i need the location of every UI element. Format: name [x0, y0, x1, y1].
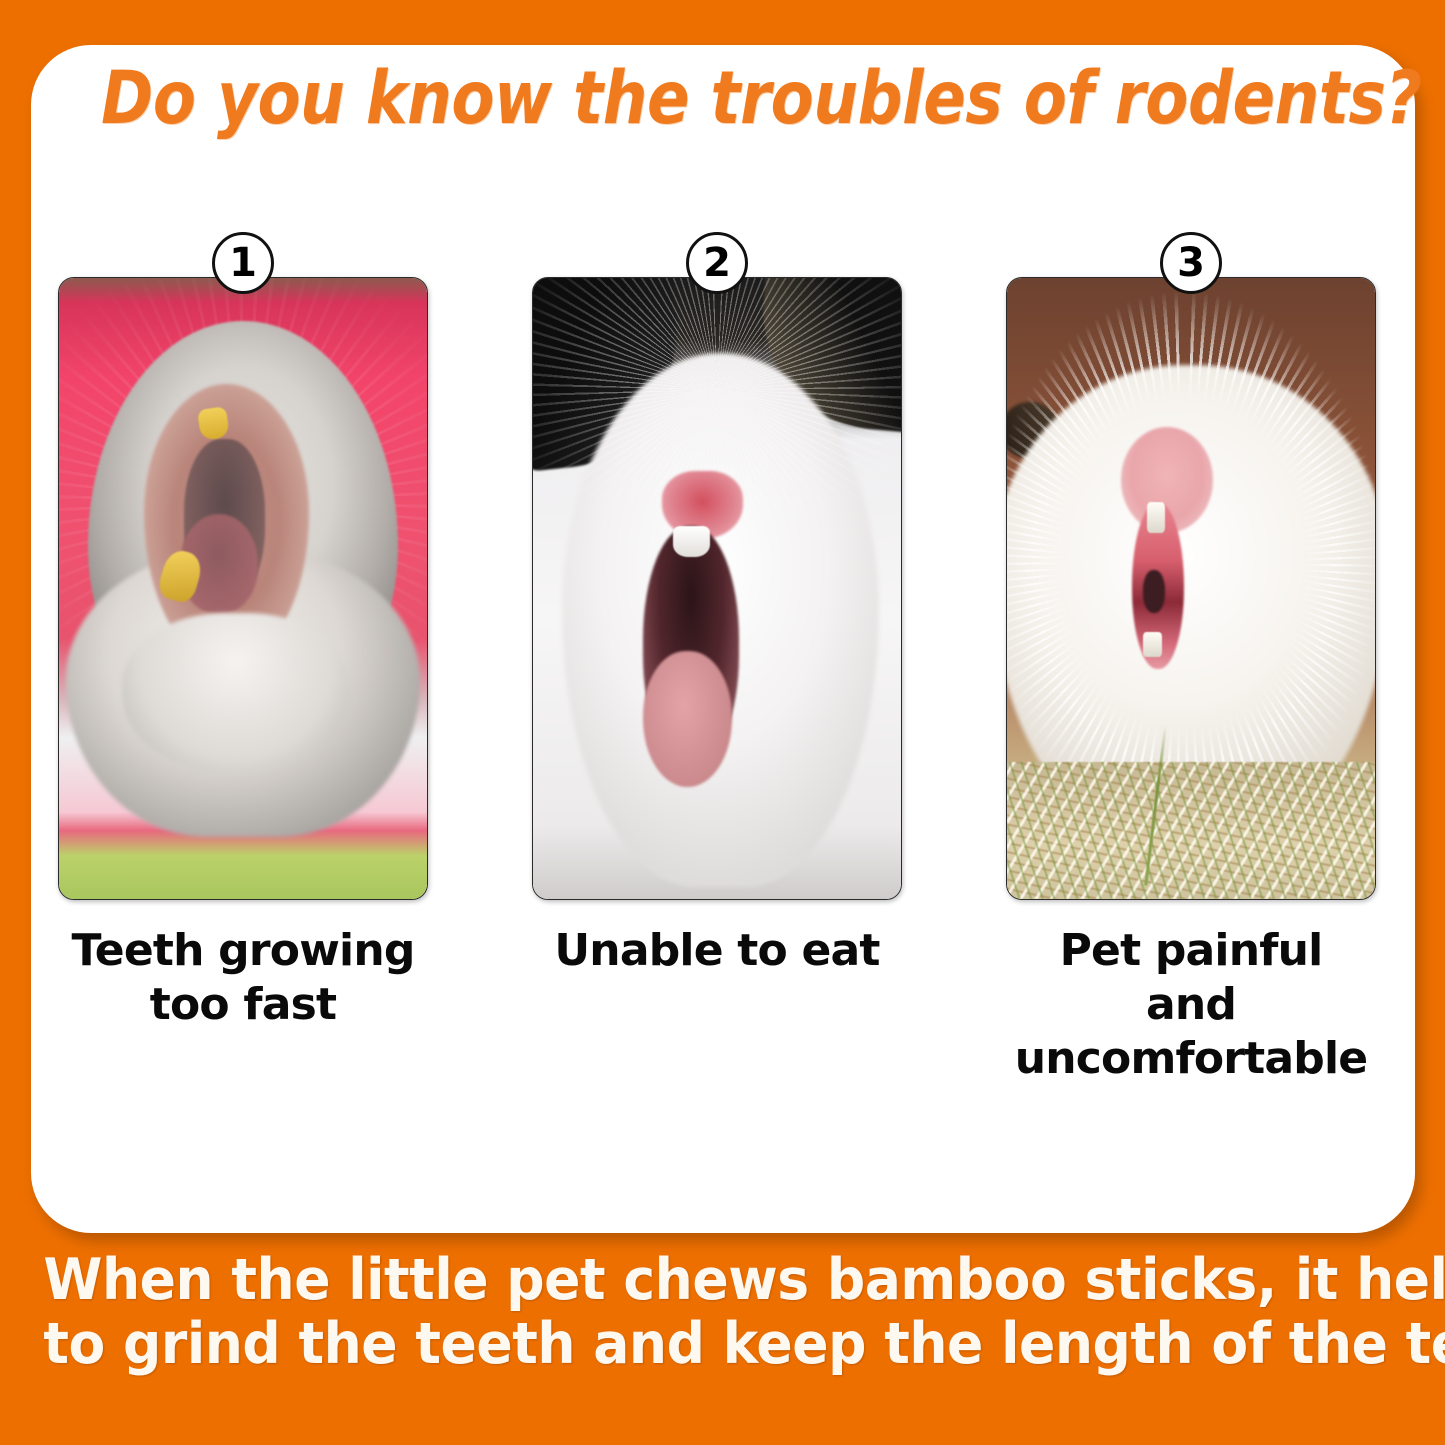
photo-pet-painful-and-uncomfortable — [1006, 277, 1376, 900]
infographic-canvas: Do you know the troubles of rodents? 1 T… — [0, 0, 1445, 1445]
caption-line: Teeth growing — [71, 924, 414, 978]
step-badge-2: 2 — [686, 232, 748, 294]
photo-3-upper-incisor — [1147, 502, 1165, 533]
bottom-banner: When the little pet chews bamboo sticks,… — [43, 1248, 1401, 1377]
panel-3-caption: Pet painful and uncomfortable — [1015, 924, 1368, 1086]
photo-teeth-growing-too-fast — [58, 277, 428, 900]
caption-line: and — [1015, 978, 1368, 1032]
photo-1-chin-fur — [122, 613, 350, 774]
panel-2: 2 Unable to eat — [531, 232, 903, 978]
panel-3: 3 Pet painful and uncomfortable — [1005, 232, 1377, 1086]
photo-2-tongue — [643, 651, 731, 788]
panel-1: 1 Teeth growing too fast — [57, 232, 429, 1032]
banner-line: to grind the teeth and keep the length o… — [43, 1312, 1401, 1376]
panel-2-caption: Unable to eat — [554, 924, 879, 978]
panel-1-caption: Teeth growing too fast — [71, 924, 414, 1032]
step-badge-1: 1 — [212, 232, 274, 294]
photo-3-throat — [1143, 570, 1165, 613]
caption-line: uncomfortable — [1015, 1032, 1368, 1086]
caption-line: Unable to eat — [554, 924, 879, 978]
photo-2-incisors — [673, 526, 710, 557]
page-title: Do you know the troubles of rodents? — [101, 56, 1344, 141]
banner-line: When the little pet chews bamboo sticks,… — [43, 1248, 1401, 1312]
step-badge-3: 3 — [1160, 232, 1222, 294]
photo-3-lower-incisor — [1143, 632, 1161, 657]
caption-line: Pet painful — [1015, 924, 1368, 978]
photo-3-wood-shaving-bedding — [1007, 762, 1375, 899]
photo-unable-to-eat — [532, 277, 902, 900]
caption-line: too fast — [71, 978, 414, 1032]
panel-row: 1 Teeth growing too fast 2 — [57, 232, 1377, 1086]
